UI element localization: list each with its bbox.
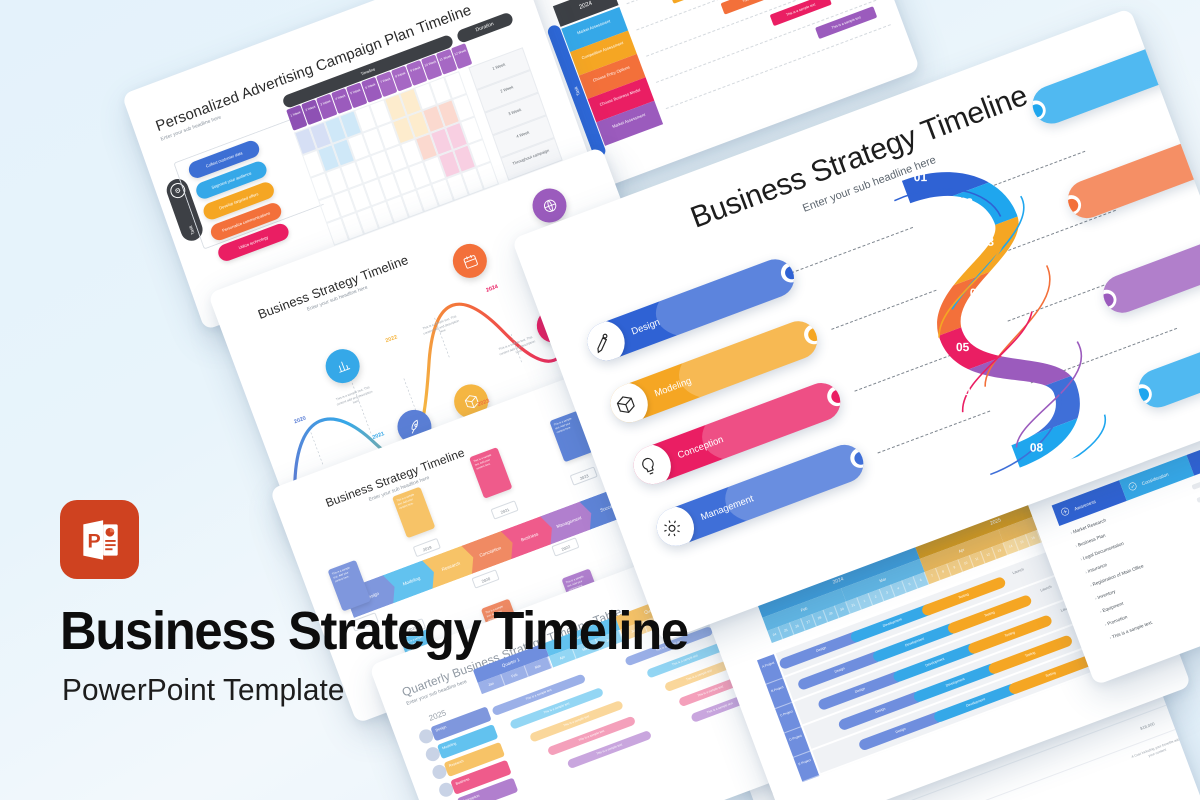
step-number: 04 <box>970 286 983 300</box>
gantt-dark-bars: This is a sample text This is a sample t… <box>617 0 891 109</box>
year-chip: 2021 <box>490 500 518 519</box>
step-number: 07 <box>989 417 1002 431</box>
promo-subtitle: PowerPoint Template <box>62 672 344 708</box>
right-pill[interactable] <box>1098 216 1200 318</box>
gear-icon <box>651 500 700 551</box>
main-left-pills: Design Modeling Conception <box>582 254 879 578</box>
launch-label: Launch <box>1012 567 1024 575</box>
chevron-card: This is a sample text. Add your content … <box>392 487 436 539</box>
chevron-card: This is a sample text. Add your content … <box>469 447 513 499</box>
lightbulb-icon <box>628 438 677 489</box>
powerpoint-glyph: P <box>75 515 125 565</box>
svg-text:P: P <box>87 530 100 552</box>
step-number: 02 <box>960 196 973 210</box>
design-pen-icon <box>582 315 631 366</box>
launch-label: Launch <box>1040 585 1052 593</box>
step-number: 05 <box>956 340 969 354</box>
step-number: 01 <box>914 170 927 184</box>
step-label: Modeling <box>653 375 693 399</box>
step-number: 08 <box>1030 440 1043 454</box>
awareness-icon <box>1058 505 1073 520</box>
year-chip: 2023 <box>570 466 598 485</box>
right-pill[interactable] <box>1133 311 1200 413</box>
promo-stage: 2024 Task Market Assessment Competition … <box>0 0 1200 800</box>
yearly-item-list: Market Research Business Plan Legal Docu… <box>1070 511 1167 649</box>
step-label: Design <box>630 316 662 337</box>
modeling-cube-icon <box>605 376 654 427</box>
right-pill[interactable] <box>1027 27 1200 129</box>
step-number: 06 <box>964 384 977 398</box>
budget-value: $18,000 <box>1139 721 1155 731</box>
consideration-icon <box>1125 479 1140 494</box>
step-number: 03 <box>981 235 994 249</box>
promo-title: Business Strategy Timeline <box>60 600 688 662</box>
right-pill[interactable] <box>1063 121 1200 223</box>
powerpoint-logo: P <box>60 500 139 579</box>
